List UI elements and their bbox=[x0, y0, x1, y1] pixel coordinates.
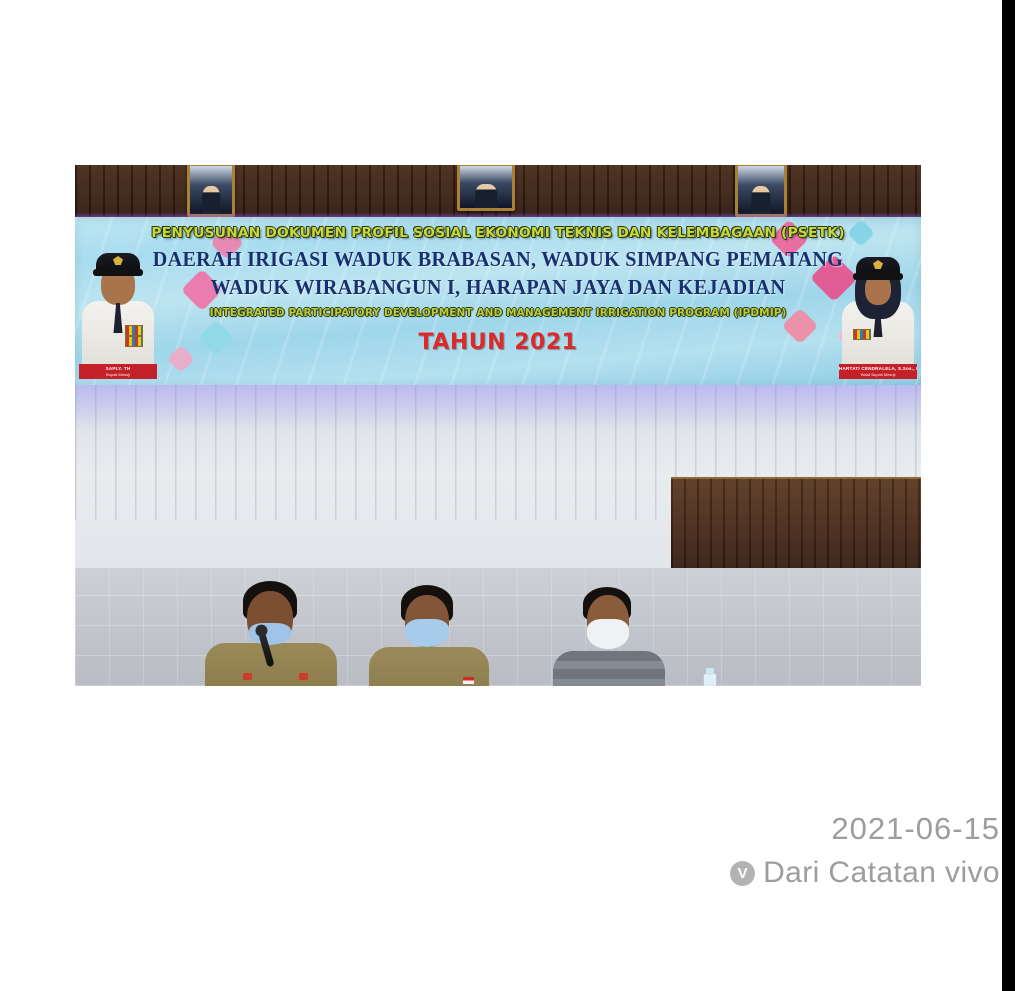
banner-official-left: SAPLY. TH Bupati Mesuji bbox=[79, 233, 157, 385]
right-black-bar bbox=[1002, 0, 1015, 991]
participant-shirt bbox=[553, 651, 665, 686]
official-right-photo bbox=[839, 243, 917, 367]
official-left-photo bbox=[79, 243, 157, 367]
event-banner: PENYUSUNAN DOKUMEN PROFIL SOSIAL EKONOMI… bbox=[75, 217, 921, 385]
water-bottle bbox=[703, 673, 717, 686]
wall-light-glow bbox=[75, 385, 921, 431]
uniform-badge-icon bbox=[299, 673, 308, 680]
vivo-badge-icon: V bbox=[730, 861, 755, 886]
official-right-nametag: HARTATI CENDRALELA, S.Sos., M Wakil Bupa… bbox=[839, 364, 917, 379]
person-speaker bbox=[201, 581, 341, 686]
flag-patch-icon bbox=[463, 677, 474, 684]
medal-ribbon-icon bbox=[125, 336, 143, 347]
medal-ribbon-icon bbox=[853, 329, 871, 340]
photo-caption: 2021-06-15 V Dari Catatan vivo bbox=[670, 810, 1000, 890]
caption-source-text: Dari Catatan vivo bbox=[763, 856, 1000, 890]
garuda-emblem-icon bbox=[873, 260, 883, 269]
garuda-emblem-icon bbox=[113, 256, 123, 265]
banner-subtitle-line: INTEGRATED PARTICIPATORY DEVELOPMENT AND… bbox=[75, 307, 921, 319]
banner-title-line-2: WADUK WIRABANGUN I, HARAPAN JAYA DAN KEJ… bbox=[92, 275, 904, 300]
caption-source-row: V Dari Catatan vivo bbox=[670, 856, 1000, 890]
peaked-cap-icon bbox=[96, 253, 140, 272]
banner-official-right: HARTATI CENDRALELA, S.Sos., M Wakil Bupa… bbox=[839, 233, 917, 385]
face-mask-icon bbox=[587, 619, 629, 649]
wall-portrait-center bbox=[457, 165, 515, 211]
face-mask-icon bbox=[405, 619, 449, 647]
caption-date: 2021-06-15 bbox=[670, 810, 1000, 848]
meeting-room bbox=[75, 385, 921, 686]
banner-year-line: TAHUN 2021 bbox=[75, 330, 921, 355]
peaked-cap-icon bbox=[856, 257, 900, 276]
medal-ribbon-icon bbox=[125, 325, 143, 336]
person-participant bbox=[553, 587, 665, 686]
photo-container: PENYUSUNAN DOKUMEN PROFIL SOSIAL EKONOMI… bbox=[75, 165, 921, 686]
official-left-nametag: SAPLY. TH Bupati Mesuji bbox=[79, 364, 157, 379]
official-right-role: Wakil Bupati Mesuji bbox=[839, 372, 917, 377]
banner-header-line: PENYUSUNAN DOKUMEN PROFIL SOSIAL EKONOMI… bbox=[75, 225, 921, 241]
wood-wainscot bbox=[671, 477, 921, 575]
official-left-role: Bupati Mesuji bbox=[79, 372, 157, 377]
banner-title-line-1: DAERAH IRIGASI WADUK BRABASAN, WADUK SIM… bbox=[92, 247, 904, 272]
person-official-seated bbox=[367, 585, 491, 686]
uniform-badge-icon bbox=[243, 673, 252, 680]
